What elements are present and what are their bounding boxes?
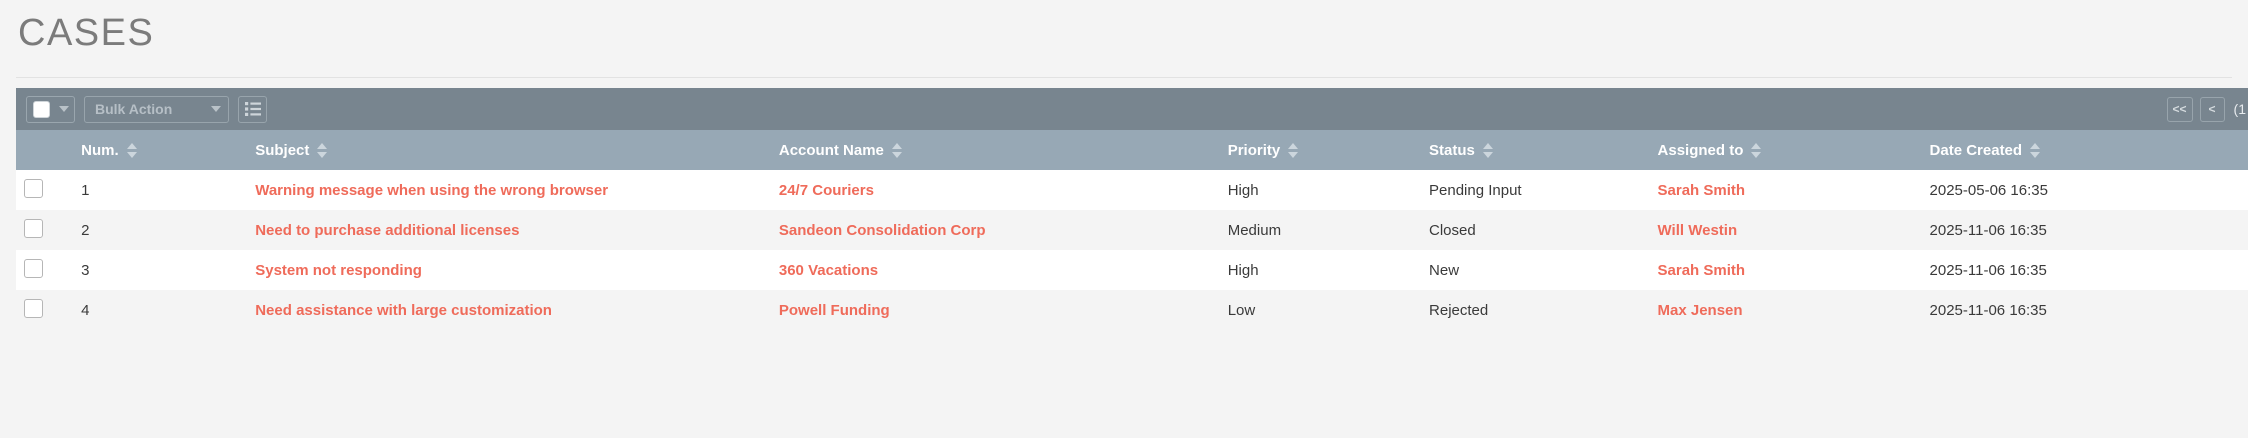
assigned-link[interactable]: Max Jensen <box>1658 302 1743 319</box>
sort-asc-icon[interactable] <box>127 143 137 149</box>
list-view-button[interactable] <box>238 96 267 123</box>
column-header-label: Account Name <box>779 142 884 159</box>
sort-desc-icon[interactable] <box>2030 152 2040 158</box>
toolbar-left-group: Bulk Action <box>26 96 267 123</box>
list-icon <box>245 102 261 116</box>
table-body: 1Warning message when using the wrong br… <box>16 170 2248 330</box>
case-list-panel: Bulk Action << < (1 <box>16 88 2248 330</box>
cell-assigned[interactable]: Max Jensen <box>1650 290 1922 330</box>
cell-assigned[interactable]: Sarah Smith <box>1650 170 1922 210</box>
table-head: Num.SubjectAccount NamePriorityStatusAss… <box>16 130 2248 170</box>
column-header-inner: Assigned to <box>1658 142 1762 159</box>
bulk-action-select[interactable]: Bulk Action <box>84 96 229 123</box>
column-header-account[interactable]: Account Name <box>771 130 1220 170</box>
cell-priority: Low <box>1220 290 1421 330</box>
cell-created: 2025-05-06 16:35 <box>1922 170 2248 210</box>
select-all-dropdown[interactable] <box>26 96 75 123</box>
column-header-label: Assigned to <box>1658 142 1744 159</box>
cell-num: 3 <box>73 250 247 290</box>
table-row[interactable]: 4Need assistance with large customizatio… <box>16 290 2248 330</box>
list-toolbar: Bulk Action << < (1 <box>16 88 2248 130</box>
sort-arrows-icon[interactable] <box>892 143 902 158</box>
column-header-label: Status <box>1429 142 1475 159</box>
cell-account[interactable]: 24/7 Couriers <box>771 170 1220 210</box>
cell-account[interactable]: Sandeon Consolidation Corp <box>771 210 1220 250</box>
account-link[interactable]: Sandeon Consolidation Corp <box>779 222 986 239</box>
row-checkbox[interactable] <box>24 259 43 278</box>
assigned-link[interactable]: Sarah Smith <box>1658 262 1746 279</box>
cell-num: 4 <box>73 290 247 330</box>
row-checkbox-cell <box>16 210 73 250</box>
cell-assigned[interactable]: Will Westin <box>1650 210 1922 250</box>
table-row[interactable]: 3System not responding360 VacationsHighN… <box>16 250 2248 290</box>
account-link[interactable]: Powell Funding <box>779 302 890 319</box>
sort-arrows-icon[interactable] <box>127 143 137 158</box>
column-header-subject[interactable]: Subject <box>247 130 771 170</box>
column-header-label: Num. <box>81 142 119 159</box>
cell-priority: High <box>1220 170 1421 210</box>
title-divider <box>16 77 2232 78</box>
row-checkbox-cell <box>16 170 73 210</box>
cell-status: Closed <box>1421 210 1650 250</box>
bulk-action-label: Bulk Action <box>95 101 172 117</box>
column-header-inner: Account Name <box>779 142 902 159</box>
row-checkbox-cell <box>16 290 73 330</box>
pagination-count: (1 <box>2232 101 2246 117</box>
sort-asc-icon[interactable] <box>1288 143 1298 149</box>
column-header-priority[interactable]: Priority <box>1220 130 1421 170</box>
cell-status: Pending Input <box>1421 170 1650 210</box>
cell-subject[interactable]: System not responding <box>247 250 771 290</box>
column-header-label: Subject <box>255 142 309 159</box>
cell-num: 2 <box>73 210 247 250</box>
sort-asc-icon[interactable] <box>2030 143 2040 149</box>
subject-link[interactable]: Need to purchase additional licenses <box>255 222 519 239</box>
pagination-first-button[interactable]: << <box>2167 97 2193 122</box>
column-header-inner: Num. <box>81 142 137 159</box>
sort-arrows-icon[interactable] <box>1751 143 1761 158</box>
row-checkbox[interactable] <box>24 299 43 318</box>
cell-account[interactable]: 360 Vacations <box>771 250 1220 290</box>
cell-created: 2025-11-06 16:35 <box>1922 210 2248 250</box>
cell-status: New <box>1421 250 1650 290</box>
sort-arrows-icon[interactable] <box>1288 143 1298 158</box>
assigned-link[interactable]: Will Westin <box>1658 222 1738 239</box>
select-all-checkbox[interactable] <box>33 101 50 118</box>
account-link[interactable]: 24/7 Couriers <box>779 182 874 199</box>
cell-assigned[interactable]: Sarah Smith <box>1650 250 1922 290</box>
table-row[interactable]: 2Need to purchase additional licensesSan… <box>16 210 2248 250</box>
cell-account[interactable]: Powell Funding <box>771 290 1220 330</box>
row-checkbox[interactable] <box>24 179 43 198</box>
chevron-down-icon[interactable] <box>211 106 221 112</box>
column-header-assigned[interactable]: Assigned to <box>1650 130 1922 170</box>
cell-priority: Medium <box>1220 210 1421 250</box>
account-link[interactable]: 360 Vacations <box>779 262 878 279</box>
sort-desc-icon[interactable] <box>317 152 327 158</box>
subject-link[interactable]: Need assistance with large customization <box>255 302 552 319</box>
sort-desc-icon[interactable] <box>1751 152 1761 158</box>
chevron-down-icon[interactable] <box>59 106 69 112</box>
column-header-inner: Date Created <box>1930 142 2041 159</box>
pagination-controls: << < (1 <box>2167 97 2248 122</box>
column-header-status[interactable]: Status <box>1421 130 1650 170</box>
subject-link[interactable]: System not responding <box>255 262 422 279</box>
row-checkbox[interactable] <box>24 219 43 238</box>
page-header: CASES <box>0 0 2248 64</box>
cell-priority: High <box>1220 250 1421 290</box>
sort-desc-icon[interactable] <box>892 152 902 158</box>
sort-arrows-icon[interactable] <box>317 143 327 158</box>
subject-link[interactable]: Warning message when using the wrong bro… <box>255 182 608 199</box>
column-header-label: Priority <box>1228 142 1281 159</box>
sort-desc-icon[interactable] <box>1288 152 1298 158</box>
cell-num: 1 <box>73 170 247 210</box>
cell-created: 2025-11-06 16:35 <box>1922 290 2248 330</box>
cell-subject[interactable]: Warning message when using the wrong bro… <box>247 170 771 210</box>
table-header-row: Num.SubjectAccount NamePriorityStatusAss… <box>16 130 2248 170</box>
cell-status: Rejected <box>1421 290 1650 330</box>
column-header-inner: Priority <box>1228 142 1299 159</box>
row-checkbox-cell <box>16 250 73 290</box>
sort-asc-icon[interactable] <box>1483 143 1493 149</box>
column-header-inner: Status <box>1429 142 1493 159</box>
column-header-label: Date Created <box>1930 142 2023 159</box>
cell-subject[interactable]: Need to purchase additional licenses <box>247 210 771 250</box>
assigned-link[interactable]: Sarah Smith <box>1658 182 1746 199</box>
page-title: CASES <box>18 14 2248 52</box>
sort-arrows-icon[interactable] <box>2030 143 2040 158</box>
header-checkbox-cell <box>16 130 73 170</box>
column-header-created[interactable]: Date Created <box>1922 130 2248 170</box>
sort-asc-icon[interactable] <box>317 143 327 149</box>
sort-desc-icon[interactable] <box>127 152 137 158</box>
sort-asc-icon[interactable] <box>892 143 902 149</box>
column-header-num[interactable]: Num. <box>73 130 247 170</box>
cases-table: Num.SubjectAccount NamePriorityStatusAss… <box>16 130 2248 330</box>
pagination-prev-button[interactable]: < <box>2200 97 2225 122</box>
sort-asc-icon[interactable] <box>1751 143 1761 149</box>
cell-created: 2025-11-06 16:35 <box>1922 250 2248 290</box>
table-row[interactable]: 1Warning message when using the wrong br… <box>16 170 2248 210</box>
sort-arrows-icon[interactable] <box>1483 143 1493 158</box>
column-header-inner: Subject <box>255 142 327 159</box>
sort-desc-icon[interactable] <box>1483 152 1493 158</box>
cell-subject[interactable]: Need assistance with large customization <box>247 290 771 330</box>
